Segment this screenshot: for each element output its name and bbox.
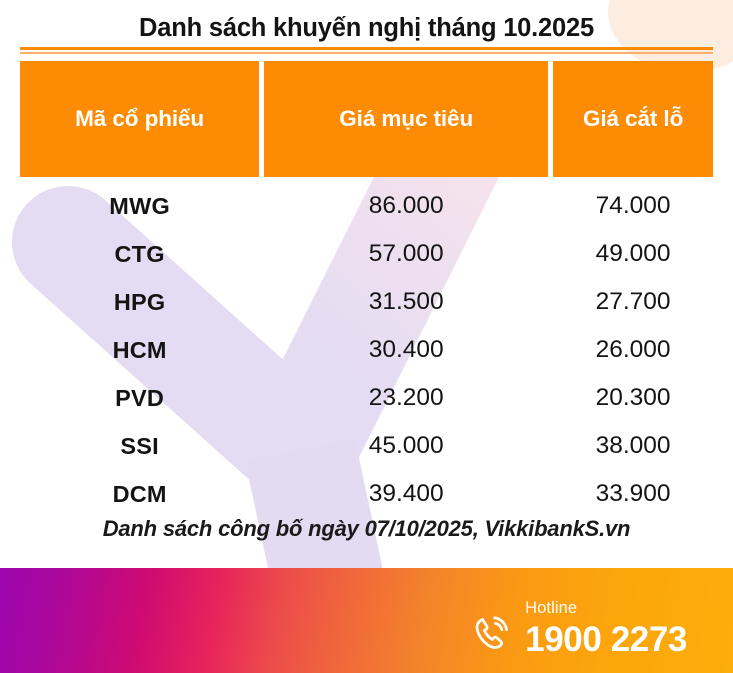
cell-target-price: 31.500 <box>264 288 548 316</box>
column-header-label: Giá cắt lỗ <box>583 106 683 132</box>
cell-stock-code: CTG <box>20 241 259 268</box>
cell-stop-loss-price: 20.300 <box>553 384 713 412</box>
table-row: HCM 30.400 26.000 <box>20 326 713 374</box>
cell-stock-code: HPG <box>20 289 259 316</box>
cell-stop-loss-price: 74.000 <box>553 192 713 220</box>
cell-target-price: 39.400 <box>264 480 548 508</box>
column-header-target-price: Giá mục tiêu <box>264 61 548 177</box>
accent-stripe-light <box>20 52 713 54</box>
cell-stock-code: SSI <box>20 433 259 460</box>
cell-target-price: 23.200 <box>264 384 548 412</box>
accent-stripe-solid <box>20 47 713 50</box>
cell-stop-loss-price: 33.900 <box>553 480 713 508</box>
column-header-label: Mã cổ phiếu <box>75 106 204 132</box>
cell-target-price: 30.400 <box>264 336 548 364</box>
table-row: MWG 86.000 74.000 <box>20 182 713 230</box>
cell-stop-loss-price: 49.000 <box>553 240 713 268</box>
table-row: PVD 23.200 20.300 <box>20 374 713 422</box>
table-row: HPG 31.500 27.700 <box>20 278 713 326</box>
cell-stop-loss-price: 26.000 <box>553 336 713 364</box>
recommendation-poster: Danh sách khuyến nghị tháng 10.2025 Mã c… <box>0 0 733 673</box>
recommendation-table: Mã cổ phiếu Giá mục tiêu Giá cắt lỗ MWG … <box>20 61 713 518</box>
cell-stock-code: PVD <box>20 385 259 412</box>
hotline-label: Hotline <box>525 600 577 617</box>
phone-call-icon <box>471 612 513 654</box>
cell-stop-loss-price: 38.000 <box>553 432 713 460</box>
column-header-stop-loss-price: Giá cắt lỗ <box>553 61 713 177</box>
table-row: CTG 57.000 49.000 <box>20 230 713 278</box>
cell-target-price: 57.000 <box>264 240 548 268</box>
accent-stripes <box>20 47 713 59</box>
publication-caption: Danh sách công bố ngày 07/10/2025, Vikki… <box>0 516 733 542</box>
cell-target-price: 45.000 <box>264 432 548 460</box>
column-header-stock-code: Mã cổ phiếu <box>20 61 259 177</box>
page-title: Danh sách khuyến nghị tháng 10.2025 <box>0 14 733 43</box>
table-body: MWG 86.000 74.000 CTG 57.000 49.000 HPG … <box>20 177 713 518</box>
footer-banner: Hotline 1900 2273 <box>0 568 733 673</box>
hotline-block[interactable]: Hotline 1900 2273 <box>471 600 687 657</box>
table-row: DCM 39.400 33.900 <box>20 470 713 518</box>
cell-stock-code: DCM <box>20 481 259 508</box>
hotline-text-group: Hotline 1900 2273 <box>525 600 687 657</box>
hotline-number[interactable]: 1900 2273 <box>525 622 687 657</box>
cell-stock-code: HCM <box>20 337 259 364</box>
table-row: SSI 45.000 38.000 <box>20 422 713 470</box>
table-header-row: Mã cổ phiếu Giá mục tiêu Giá cắt lỗ <box>20 61 713 177</box>
cell-target-price: 86.000 <box>264 192 548 220</box>
cell-stock-code: MWG <box>20 193 259 220</box>
cell-stop-loss-price: 27.700 <box>553 288 713 316</box>
column-header-label: Giá mục tiêu <box>339 106 473 132</box>
